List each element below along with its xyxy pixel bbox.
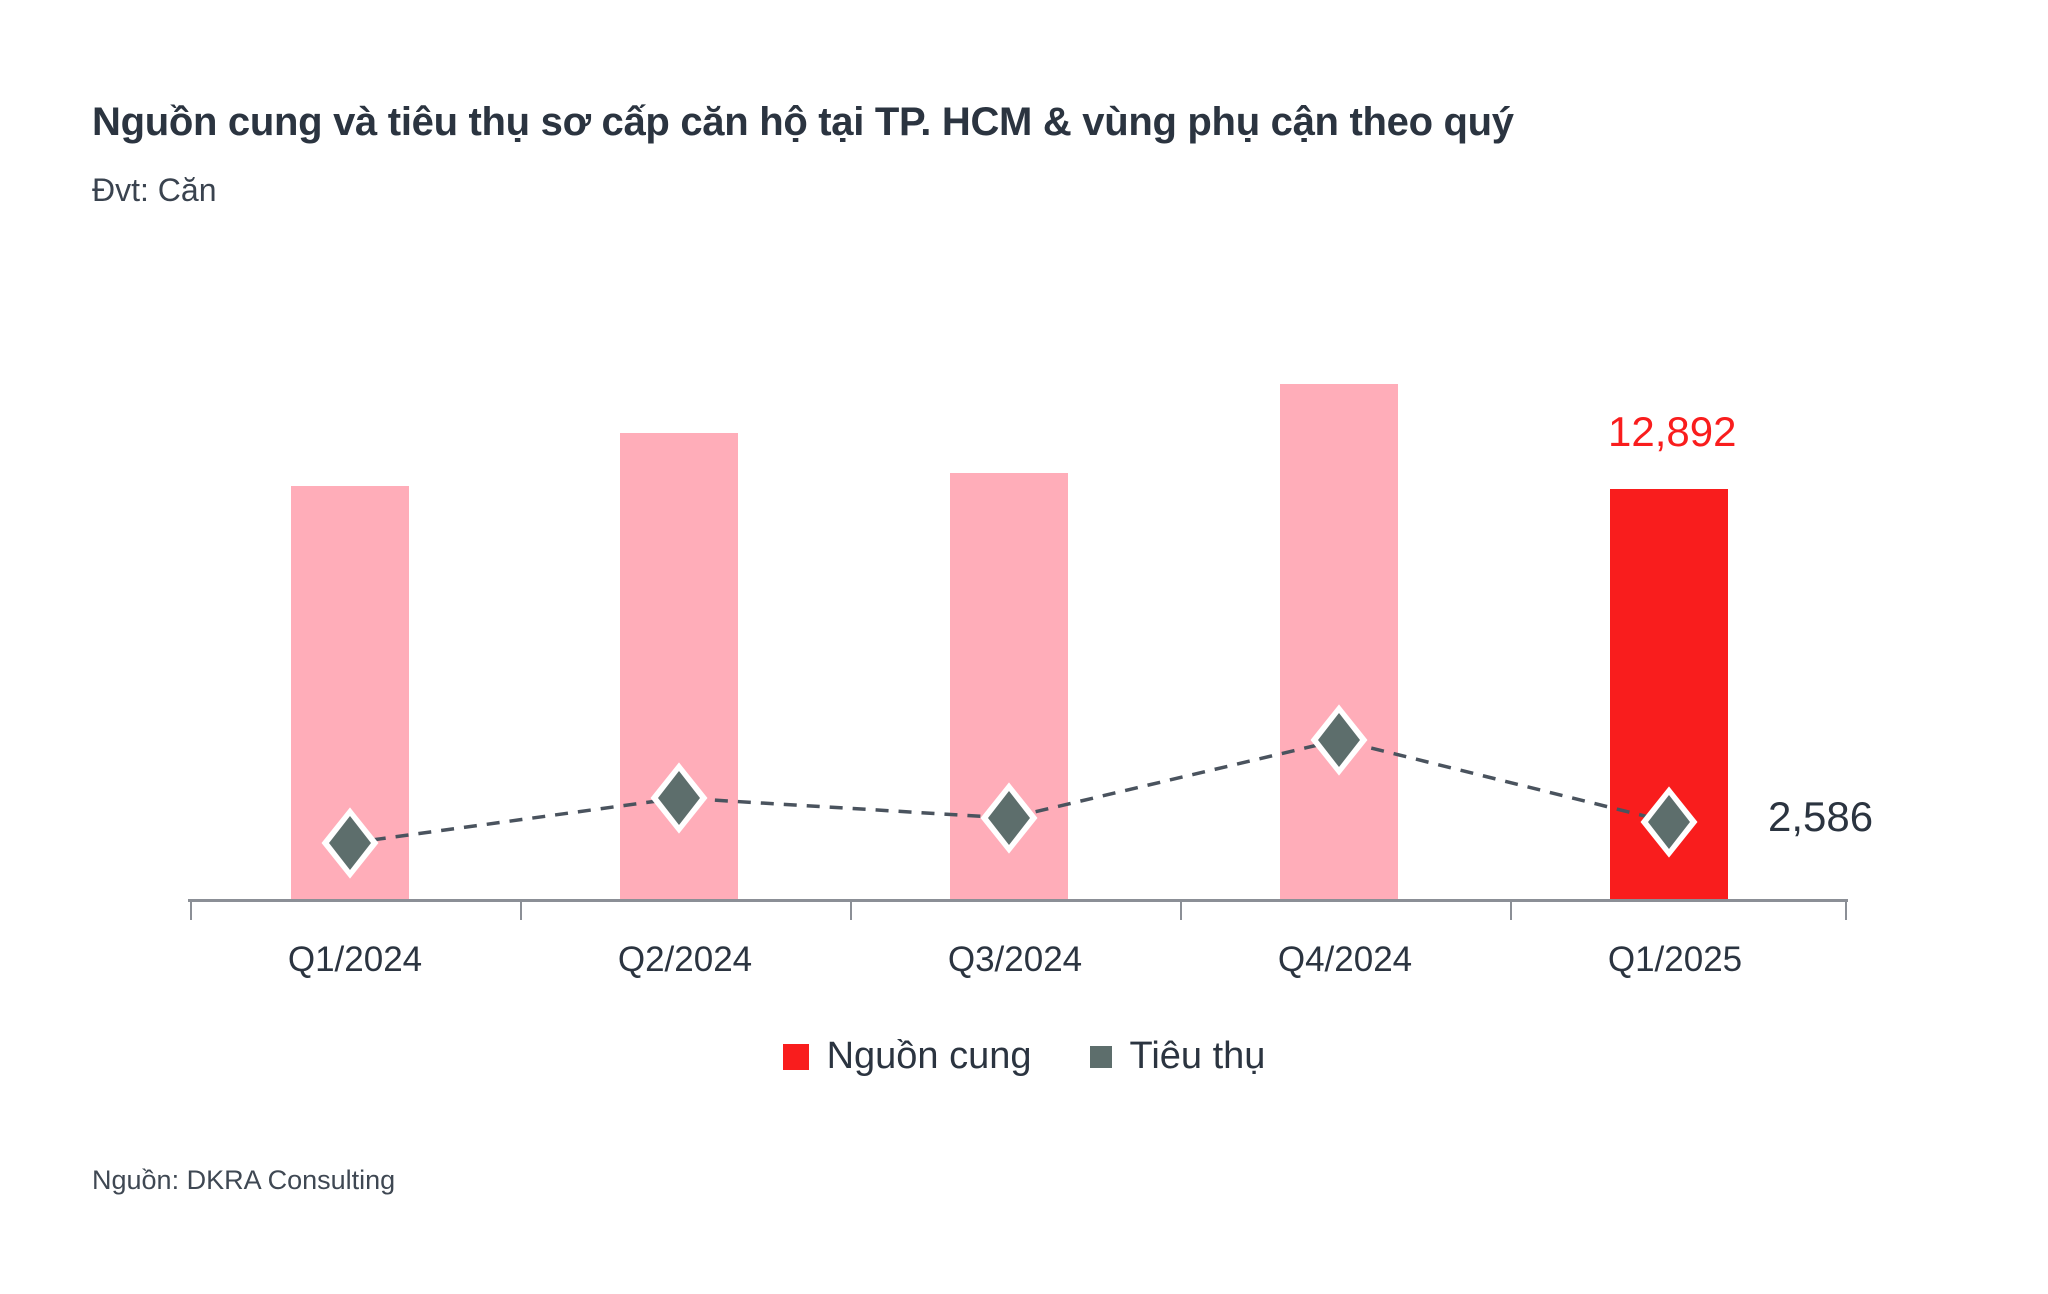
bar-q1-2025[interactable] xyxy=(1610,489,1728,899)
x-label-q1-2024: Q1/2024 xyxy=(190,940,520,980)
bar-q3-2024[interactable] xyxy=(950,473,1068,899)
axis-tick-0 xyxy=(190,902,192,920)
legend-item-supply[interactable]: Nguồn cung xyxy=(783,1035,1032,1078)
bar-q1-2024[interactable] xyxy=(291,486,409,899)
legend-swatch-supply-icon xyxy=(783,1044,809,1070)
x-label-q1-2025: Q1/2025 xyxy=(1510,940,1840,980)
chart-page: Nguồn cung và tiêu thụ sơ cấp căn hộ tại… xyxy=(0,0,2048,1294)
legend-swatch-absorption-icon xyxy=(1090,1046,1112,1068)
chart-unit-subtitle: Đvt: Căn xyxy=(92,172,216,209)
legend-label-absorption: Tiêu thụ xyxy=(1130,1035,1266,1078)
page-title: Nguồn cung và tiêu thụ sơ cấp căn hộ tại… xyxy=(92,100,1514,145)
x-label-q4-2024: Q4/2024 xyxy=(1180,940,1510,980)
legend-label-supply: Nguồn cung xyxy=(827,1035,1032,1078)
bar-q4-2024[interactable] xyxy=(1280,384,1398,899)
x-axis-line xyxy=(188,899,1848,902)
legend-item-absorption[interactable]: Tiêu thụ xyxy=(1090,1035,1266,1078)
bar-q2-2024[interactable] xyxy=(620,433,738,899)
value-label-absorption-q1-2025: 2,586 xyxy=(1768,793,1873,841)
source-note: Nguồn: DKRA Consulting xyxy=(92,1165,395,1196)
axis-tick-1 xyxy=(520,902,522,920)
axis-tick-2 xyxy=(850,902,852,920)
x-label-q3-2024: Q3/2024 xyxy=(850,940,1180,980)
axis-tick-5 xyxy=(1845,902,1847,920)
x-label-q2-2024: Q2/2024 xyxy=(520,940,850,980)
chart-legend: Nguồn cung Tiêu thụ xyxy=(0,1035,2048,1078)
axis-tick-3 xyxy=(1180,902,1182,920)
axis-tick-4 xyxy=(1510,902,1512,920)
value-label-supply-q1-2025: 12,892 xyxy=(1608,408,1736,456)
